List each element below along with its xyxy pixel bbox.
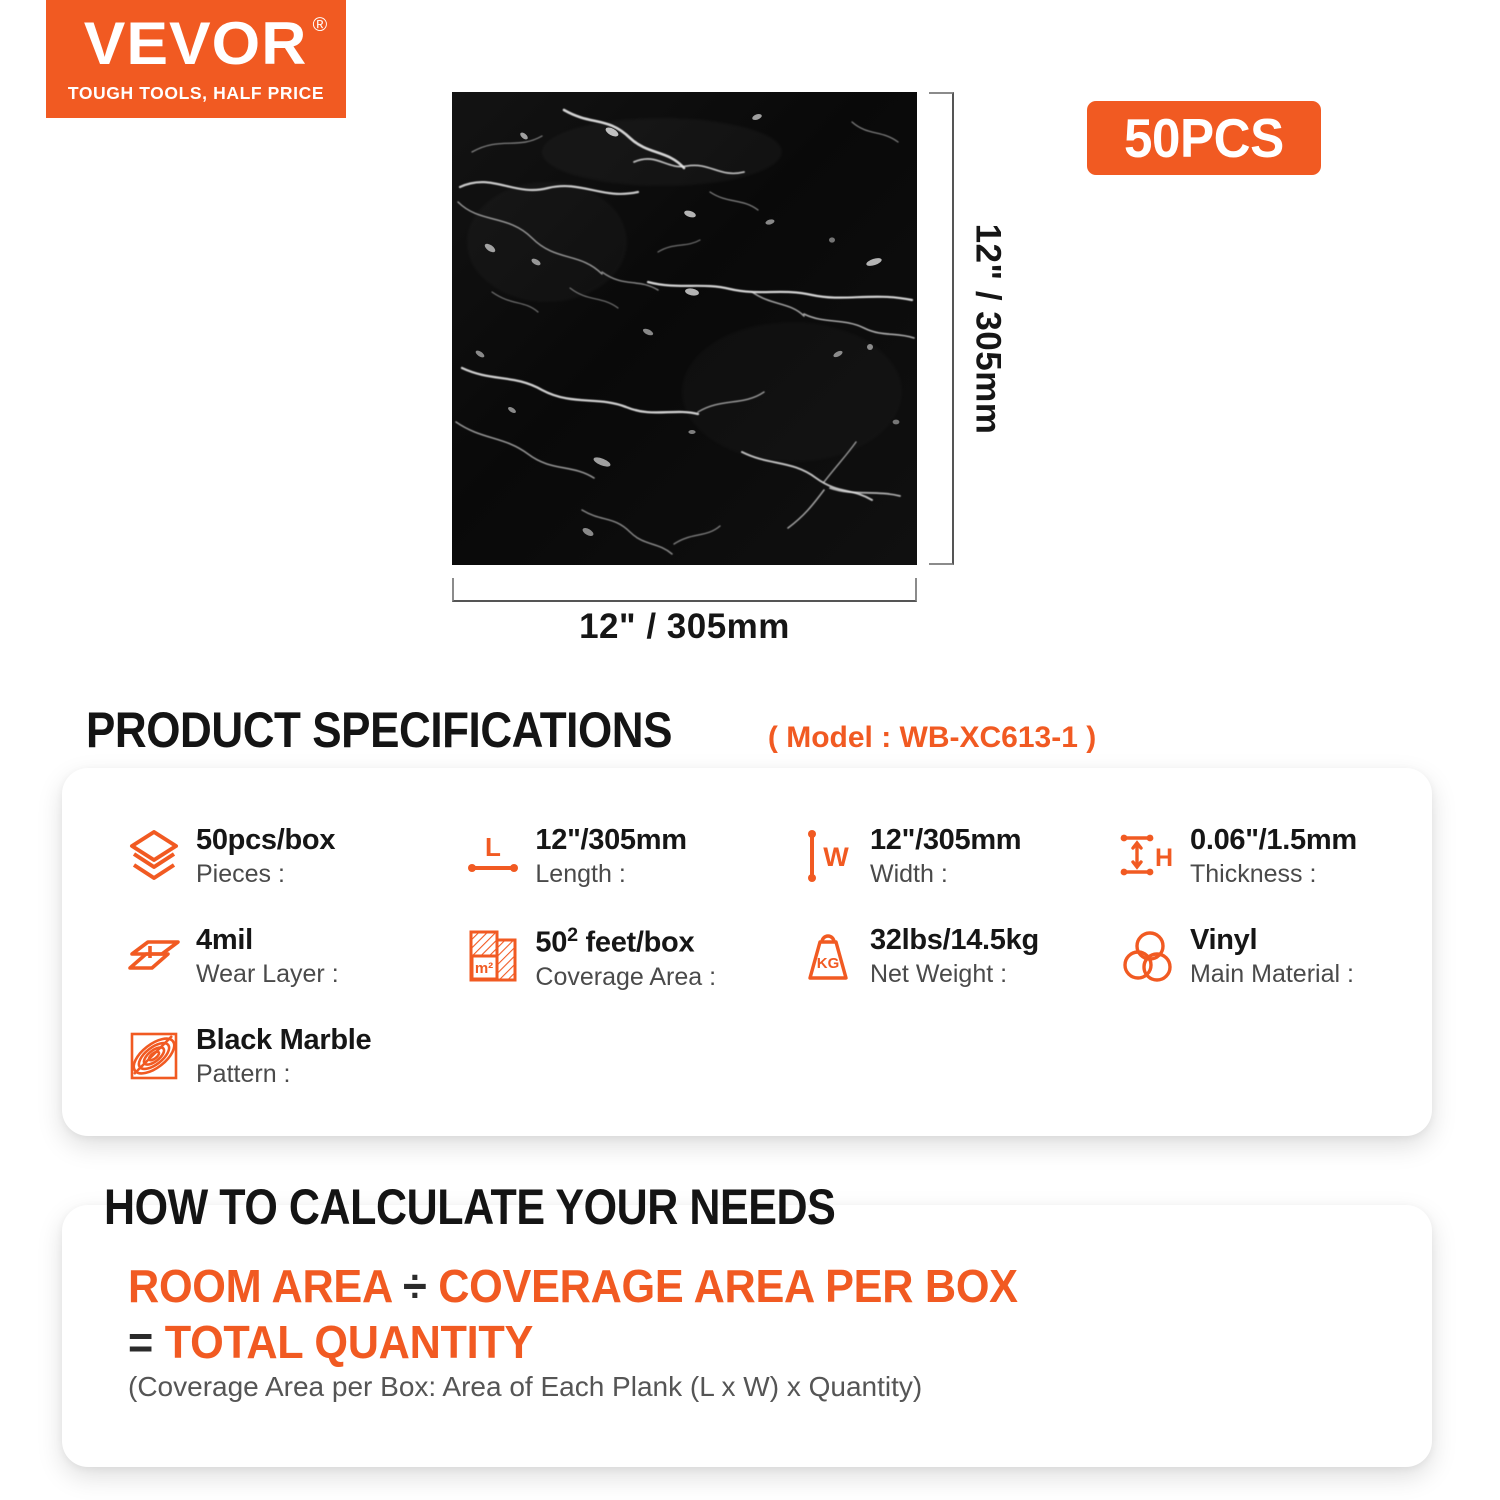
brand-logo: VEVOR® TOUGH TOOLS, HALF PRICE [46, 0, 346, 118]
spec-value: 4mil [196, 924, 339, 956]
spec-item-length: L 12"/305mm Length : [457, 820, 792, 916]
thickness-icon: H [1112, 820, 1184, 892]
spec-label: Coverage Area : [535, 962, 716, 993]
formula-room-area: ROOM AREA [128, 1260, 391, 1312]
width-icon: W [792, 820, 864, 892]
material-icon [1112, 920, 1184, 992]
svg-text:H: H [1155, 844, 1173, 872]
product-spec-infographic: VEVOR® TOUGH TOOLS, HALF PRICE 50PCS [0, 0, 1500, 1500]
spec-item-net-weight: KG 32lbs/14.5kg Net Weight : [792, 920, 1112, 1016]
calculate-note: (Coverage Area per Box: Area of Each Pla… [128, 1371, 922, 1403]
height-dimension-label: 12" / 305mm [967, 223, 1007, 434]
svg-text:m²: m² [475, 960, 493, 977]
spec-value: Black Marble [196, 1024, 371, 1056]
spec-text: 0.06"/1.5mm Thickness : [1190, 820, 1357, 891]
height-dimension-label-wrap: 12" / 305mm [952, 92, 1022, 565]
weight-icon: KG [792, 920, 864, 992]
formula-line-1: ROOM AREA ÷ COVERAGE AREA PER BOX [128, 1258, 1312, 1314]
spec-value-prefix: 50 [535, 927, 567, 959]
specifications-card: 50pcs/box Pieces : L 12"/305 [62, 768, 1432, 1136]
quantity-badge-label: 50PCS [1124, 106, 1284, 170]
spec-text: 502 feet/box Coverage Area : [535, 920, 716, 993]
spec-value: 32lbs/14.5kg [870, 924, 1039, 956]
specifications-heading-row: PRODUCT SPECIFICATIONS ( Model : WB-XC61… [86, 701, 1096, 759]
svg-text:W: W [823, 842, 849, 872]
formula-divide-operator: ÷ [403, 1260, 426, 1312]
spec-text: 12"/305mm Length : [535, 820, 686, 891]
svg-text:KG: KG [817, 955, 840, 972]
spec-label: Wear Layer : [196, 959, 339, 990]
spec-text: 50pcs/box Pieces : [196, 820, 335, 891]
spec-label: Main Material : [1190, 959, 1354, 990]
spec-item-thickness: H 0.06"/1.5mm Thickness : [1112, 820, 1432, 916]
product-model: ( Model : WB-XC613-1 ) [768, 721, 1096, 755]
spec-value: 12"/305mm [535, 824, 686, 856]
formula-line-2: = TOTAL QUANTITY [128, 1314, 1312, 1370]
spec-row: 50pcs/box Pieces : L 12"/305 [118, 820, 1432, 916]
spec-text: 4mil Wear Layer : [196, 920, 339, 991]
spec-value: 12"/305mm [870, 824, 1021, 856]
spec-item-wear-layer: 4mil Wear Layer : [118, 920, 457, 1016]
spec-text: 32lbs/14.5kg Net Weight : [870, 920, 1039, 991]
svg-text:L: L [485, 832, 501, 862]
formula-total-quantity: TOTAL QUANTITY [165, 1316, 533, 1368]
spec-row: Black Marble Pattern : [118, 1020, 1432, 1116]
spec-text: Vinyl Main Material : [1190, 920, 1354, 991]
length-icon: L [457, 820, 529, 892]
pattern-icon [118, 1020, 190, 1092]
specifications-heading: PRODUCT SPECIFICATIONS [86, 701, 672, 759]
registered-trademark-icon: ® [313, 16, 329, 35]
spec-text: 12"/305mm Width : [870, 820, 1021, 891]
spec-value-suffix: feet/box [578, 927, 695, 959]
width-dimension-bracket [452, 578, 917, 602]
area-icon: m² [457, 920, 529, 992]
spec-label: Length : [535, 859, 686, 890]
brand-tagline: TOUGH TOOLS, HALF PRICE [68, 83, 324, 104]
calculate-formula: ROOM AREA ÷ COVERAGE AREA PER BOX = TOTA… [128, 1258, 1388, 1370]
spec-value-superscript: 2 [567, 924, 578, 946]
quantity-badge: 50PCS [1087, 101, 1321, 175]
formula-coverage-area: COVERAGE AREA PER BOX [438, 1260, 1018, 1312]
brand-name: VEVOR® [84, 14, 308, 74]
spec-label: Pieces : [196, 859, 335, 890]
black-marble-texture-icon [452, 92, 917, 565]
spec-label: Pattern : [196, 1059, 371, 1090]
specifications-grid: 50pcs/box Pieces : L 12"/305 [62, 768, 1432, 1136]
spec-item-main-material: Vinyl Main Material : [1112, 920, 1432, 1016]
spec-label: Thickness : [1190, 859, 1357, 890]
formula-equals-operator: = [128, 1316, 153, 1368]
layers-icon [118, 820, 190, 892]
spec-item-coverage-area: m² 502 feet/box Coverage Area : [457, 920, 792, 1016]
spec-value: 0.06"/1.5mm [1190, 824, 1357, 856]
width-dimension-label: 12" / 305mm [452, 607, 917, 647]
spec-label: Net Weight : [870, 959, 1039, 990]
height-dimension-bracket [929, 92, 954, 565]
spec-value: Vinyl [1190, 924, 1354, 956]
spec-item-pattern: Black Marble Pattern : [118, 1020, 468, 1116]
spec-item-pieces: 50pcs/box Pieces : [118, 820, 457, 916]
spec-row: 4mil Wear Layer : [118, 920, 1432, 1016]
product-image [452, 92, 917, 565]
spec-item-width: W 12"/305mm Width : [792, 820, 1112, 916]
spec-value: 50pcs/box [196, 824, 335, 856]
spec-value: 502 feet/box [535, 924, 716, 959]
spec-label: Width : [870, 859, 1021, 890]
spec-text: Black Marble Pattern : [196, 1020, 371, 1091]
brand-name-text: VEVOR [84, 10, 308, 77]
calculate-heading: HOW TO CALCULATE YOUR NEEDS [104, 1178, 835, 1236]
wear-layer-icon [118, 920, 190, 992]
